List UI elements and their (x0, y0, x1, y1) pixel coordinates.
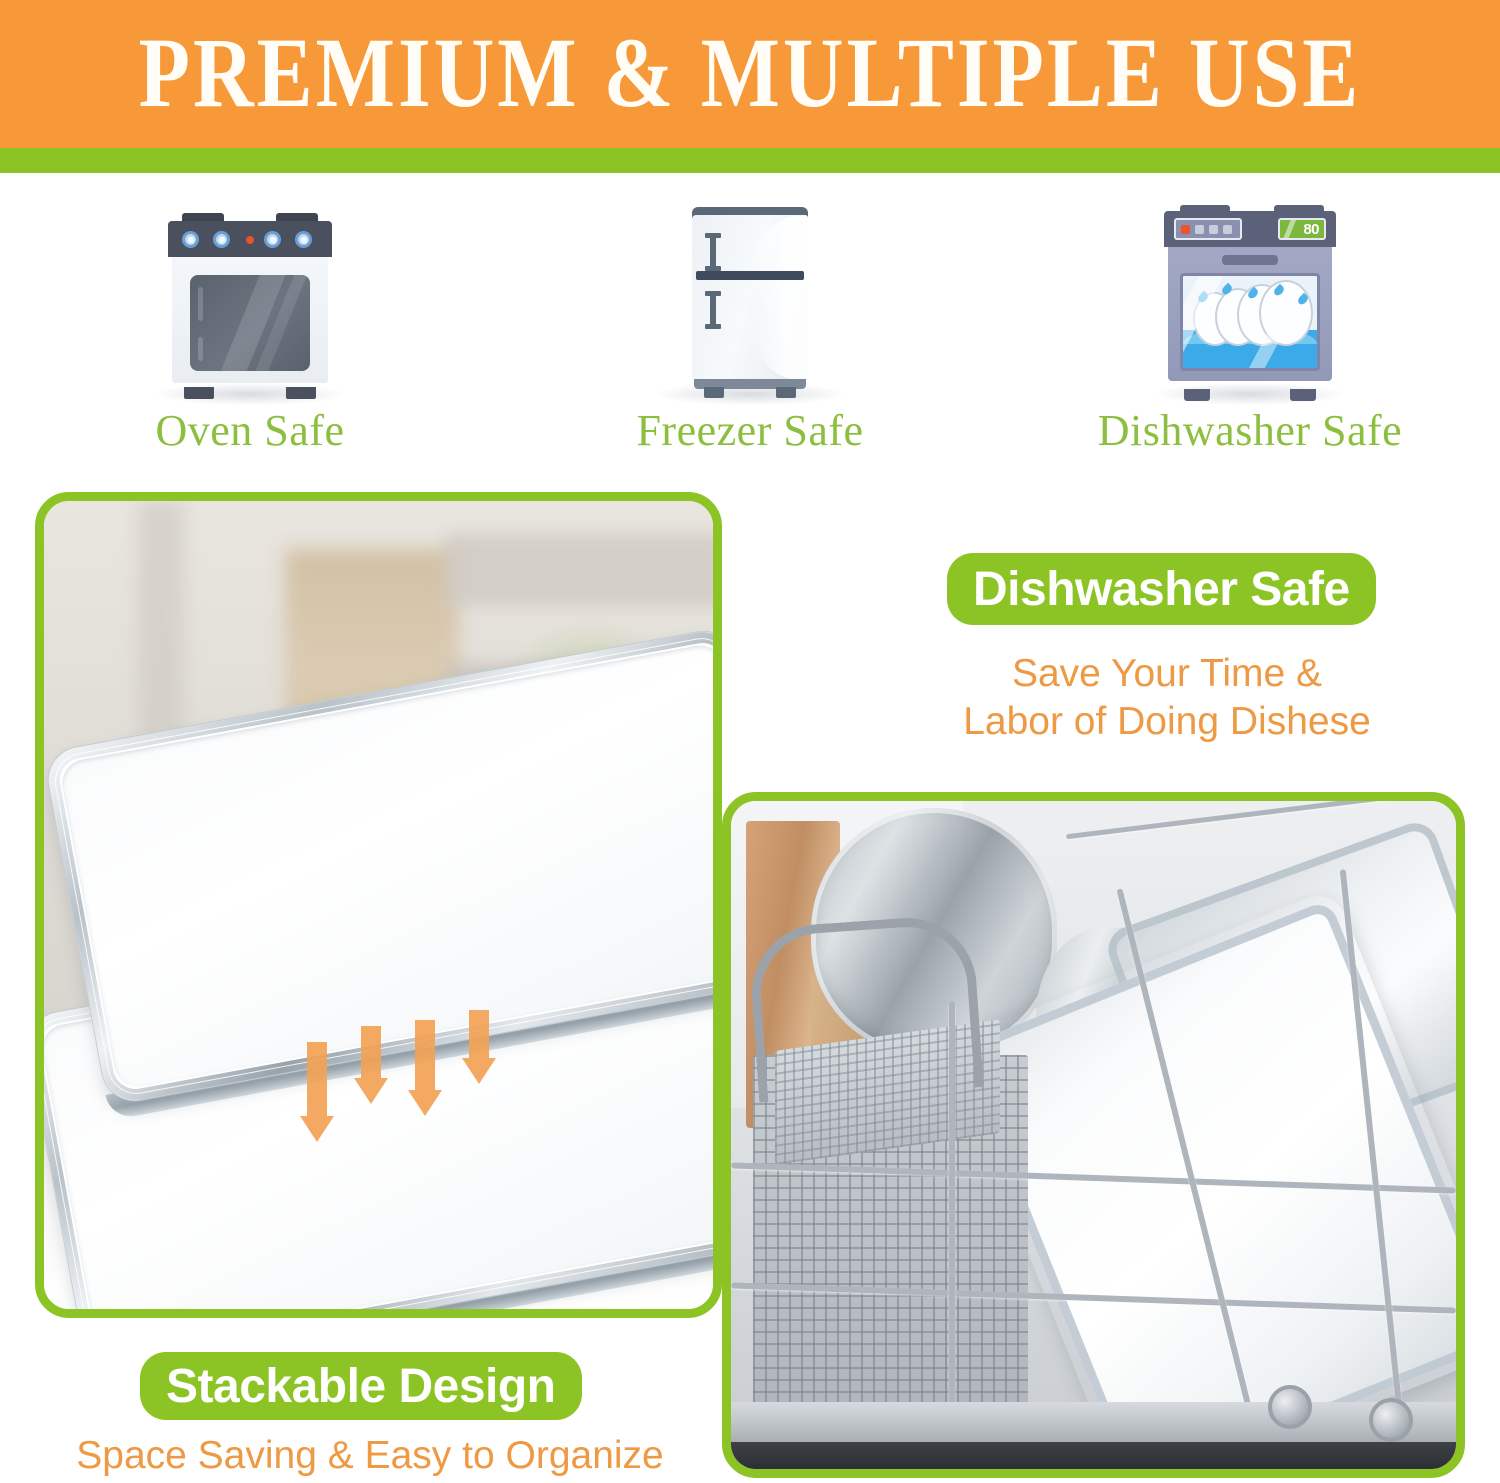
fridge-handle-upper (710, 233, 716, 271)
oven-graphic (168, 213, 332, 391)
dishwasher-display-value: 80 (1303, 221, 1319, 238)
rack-wheel-1 (1268, 1385, 1312, 1429)
down-arrow-3 (408, 1020, 442, 1116)
feature-oven-safe: Oven Safe (0, 173, 500, 478)
rack-wheel-2 (1369, 1398, 1413, 1442)
dishwasher-body (1168, 247, 1332, 381)
oven-control-panel (168, 221, 332, 257)
down-arrow-4 (462, 1010, 496, 1084)
dishwasher-power-button (1181, 225, 1190, 234)
freezer-icon (640, 199, 860, 399)
dishwasher-safe-subtext: Save Your Time & Labor of Doing Dishese (947, 650, 1387, 745)
dishwasher-safe-badge: Dishwasher Safe (947, 553, 1376, 625)
oven-knob-4 (295, 231, 312, 248)
dishwasher-interior (731, 801, 1456, 1469)
header-green-divider (0, 148, 1500, 173)
dishwasher-button-2 (1209, 225, 1218, 234)
dishwasher-leg-left (1184, 389, 1210, 401)
dishwasher-button-1 (1195, 225, 1204, 234)
fridge-foot-left (704, 387, 724, 398)
dishwasher-button-group (1174, 218, 1242, 240)
oven-body (172, 257, 328, 383)
dishwasher-display-glare (1279, 218, 1297, 240)
oven-knob-3 (264, 231, 281, 248)
dishwasher-floor-shadow (731, 1442, 1456, 1469)
oven-inner-rail-1 (198, 287, 203, 321)
down-arrow-2 (354, 1026, 388, 1104)
feature-freezer-safe: Freezer Safe (500, 173, 1000, 478)
oven-knob-2 (213, 231, 230, 248)
dishwasher-rack-photo (722, 792, 1465, 1478)
cutlery-basket-handle (747, 914, 983, 1103)
feature-label-oven: Oven Safe (156, 405, 345, 456)
feature-label-freezer: Freezer Safe (636, 405, 863, 456)
oven-leg-right (286, 387, 316, 399)
dishwasher-display: 80 (1278, 218, 1326, 240)
rack-wire-3 (949, 1001, 955, 1415)
dishwasher-door-handle (1222, 255, 1278, 265)
page-title: PREMIUM & MULTIPLE USE (139, 24, 1362, 123)
dishwasher-control-panel: 80 (1164, 211, 1336, 247)
fridge-door-divider (696, 271, 804, 280)
dishwasher-button-3 (1223, 225, 1232, 234)
stackable-design-badge-label: Stackable Design (166, 1359, 556, 1414)
rack-wire-6 (1065, 794, 1397, 840)
stackable-design-subtext: Space Saving & Easy to Organize (60, 1432, 680, 1480)
oven-door-glass (190, 275, 310, 371)
fridge-handle-lower (710, 291, 716, 329)
oven-indicator-light (246, 236, 254, 244)
dishwasher-graphic: 80 (1164, 205, 1336, 391)
feature-icon-row: Oven Safe Freezer Safe (0, 173, 1500, 478)
dishwasher-safe-badge-label: Dishwasher Safe (973, 562, 1350, 617)
oven-knob-1 (182, 231, 199, 248)
dishwasher-window (1180, 273, 1320, 371)
dishwasher-leg-right (1290, 389, 1316, 401)
fridge-highlight (750, 215, 808, 381)
fridge-foot-right (776, 387, 796, 398)
fridge-graphic (692, 207, 808, 389)
dishwasher-icon: 80 (1140, 199, 1360, 399)
feature-dishwasher-safe: 80 (1000, 173, 1500, 478)
down-arrow-1 (300, 1042, 334, 1142)
stackable-design-badge: Stackable Design (140, 1352, 582, 1420)
oven-art (140, 191, 360, 399)
background-shelf-upper (445, 533, 722, 606)
stacking-arrows (300, 1020, 530, 1145)
header-banner: PREMIUM & MULTIPLE USE (0, 0, 1500, 148)
freezer-art (640, 191, 860, 399)
feature-label-dishwasher: Dishwasher Safe (1098, 405, 1402, 456)
oven-inner-rail-2 (198, 337, 203, 361)
oven-leg-left (184, 387, 214, 399)
dishwasher-art: 80 (1140, 191, 1360, 399)
oven-icon (140, 199, 360, 399)
stackable-trays-photo (35, 492, 722, 1318)
